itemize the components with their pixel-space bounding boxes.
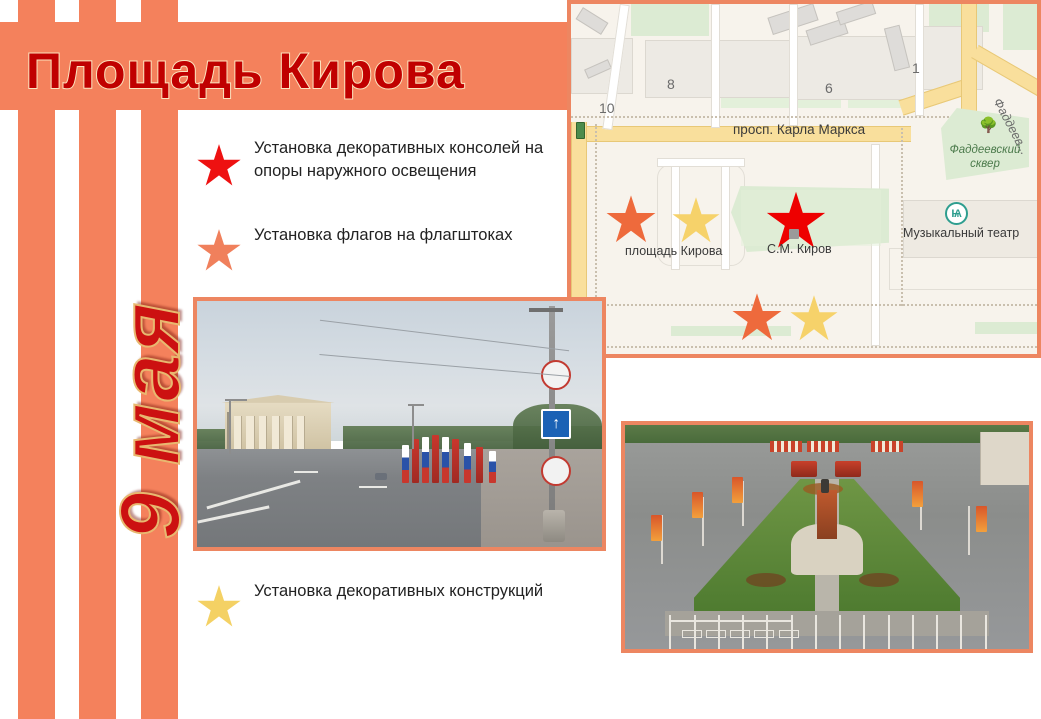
map-label-music-theatre: Музыкальный театр — [903, 226, 1019, 240]
theatre-poi-glyph: Ѩ — [951, 208, 961, 220]
one-way-arrow-sign: ↑ — [541, 409, 571, 439]
map-house-number: 1 — [912, 60, 920, 76]
map-house-number: 8 — [667, 76, 675, 92]
street-banner — [976, 506, 987, 532]
legend-item-decorative-constructions: Установка декоративных конструкций — [196, 580, 546, 628]
street-banner — [692, 492, 703, 518]
legend-item-label: Установка флагов на флагштоках — [254, 224, 512, 247]
monument-pin-icon — [789, 229, 799, 239]
car-shape — [375, 473, 387, 480]
page-title: Площадь Кирова — [26, 46, 465, 96]
legend-item-flags-on-flagpoles: Установка флагов на флагштоках — [196, 224, 526, 272]
map-frame: 🌳 Фаддеевский сквер Ѩ Музыкальный театр … — [567, 0, 1041, 358]
legend-item-label: Установка декоративных консолей на опоры… — [254, 137, 546, 184]
photo-street-view[interactable]: ↑ — [193, 297, 606, 551]
salmon-star-icon — [196, 228, 242, 272]
marker-square-salmon[interactable] — [605, 194, 657, 249]
map-house-number: 6 — [825, 80, 833, 96]
street-banner — [732, 477, 743, 503]
city-map[interactable]: 🌳 Фаддеевский сквер Ѩ Музыкальный театр … — [571, 4, 1037, 354]
marker-south-yellow[interactable] — [789, 294, 839, 347]
tree-icon: 🌳 — [979, 116, 998, 134]
red-star-icon — [196, 143, 242, 187]
marker-square-yellow[interactable] — [671, 196, 721, 249]
photo-aerial-view[interactable] — [621, 421, 1033, 653]
map-label-sm-kirov: С.М. Киров — [767, 242, 832, 256]
theatre-poi-icon[interactable]: Ѩ — [945, 202, 968, 225]
yellow-star-icon — [196, 584, 242, 628]
map-street-karla-marksa: просп. Карла Маркса — [733, 122, 865, 137]
map-label-park-line2: сквер — [939, 158, 1031, 170]
legend-item-label: Установка декоративных конструкций — [254, 580, 543, 603]
slide-root: Площадь Кирова 9 мая Установка декоратив… — [0, 0, 1041, 719]
title-banner: Площадь Кирова — [0, 22, 567, 110]
marker-south-salmon[interactable] — [731, 292, 783, 347]
street-banner — [912, 481, 923, 507]
map-label-ploshchad-kirova: площадь Кирова — [625, 244, 722, 258]
legend-item-decorative-consoles: Установка декоративных консолей на опоры… — [196, 137, 546, 187]
street-banner — [651, 515, 662, 541]
photo-aerial-view-content — [625, 425, 1029, 649]
photo-street-view-content: ↑ — [197, 301, 602, 547]
map-house-number: 10 — [599, 100, 615, 116]
traffic-signal-icon — [576, 122, 585, 139]
